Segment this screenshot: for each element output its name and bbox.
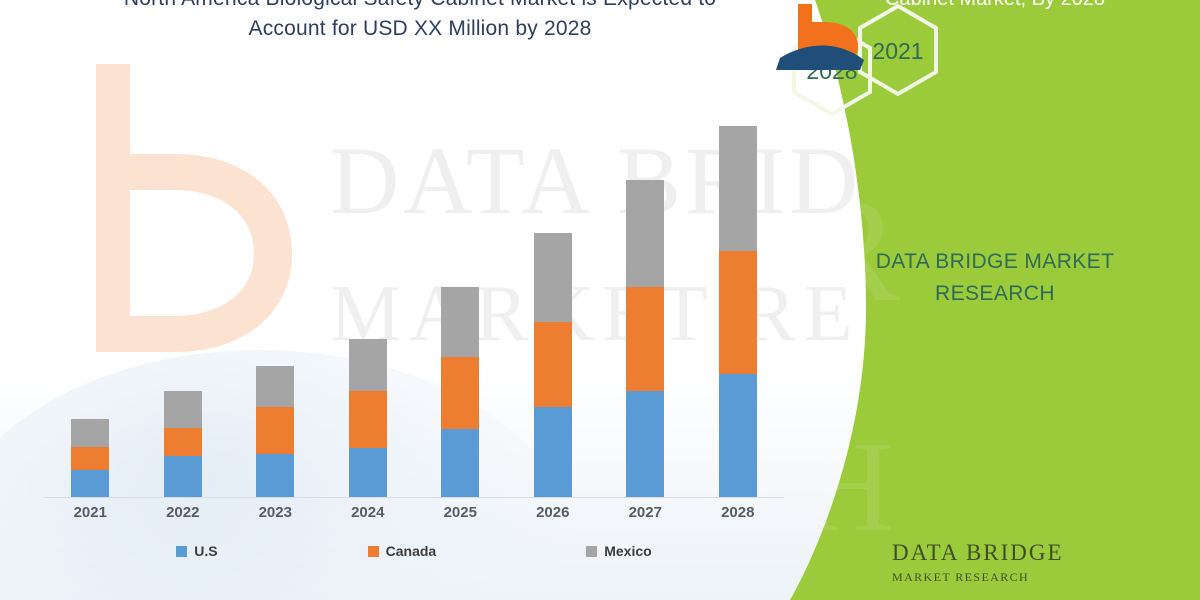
bar-segment-us-2027: [626, 391, 664, 497]
bar-segment-us-2026: [534, 407, 572, 497]
bar-segment-canada-2023: [256, 407, 294, 454]
bar-segment-mexico-2026: [534, 233, 572, 322]
infographic-canvas: DATA BRIDGE MARKET RESEARCH North Americ…: [0, 0, 1200, 600]
bar-group: [44, 120, 784, 497]
branding-panel-content: Cabinet Market, By 2028 2021 2028 DATA B…: [770, 0, 1200, 600]
legend-canada[interactable]: Canada: [368, 543, 437, 559]
bar-column-2024: [322, 120, 414, 497]
stacked-bar-2027: [626, 180, 664, 497]
stacked-bar-2022: [164, 391, 202, 497]
bar-segment-canada-2021: [71, 447, 109, 470]
plot-area: [44, 120, 784, 498]
bar-column-2022: [137, 120, 229, 497]
bar-segment-canada-2025: [441, 357, 479, 429]
legend-canada-label: Canada: [386, 543, 437, 559]
chart-panel: DATA BRIDGE MARKET RESEARCH North Americ…: [0, 0, 880, 600]
bar-column-2025: [414, 120, 506, 497]
chart-title-line-1: North America Biological Safety Cabinet …: [60, 0, 780, 14]
legend-mexico-label: Mexico: [604, 543, 651, 559]
bar-segment-mexico-2028: [719, 126, 757, 251]
stacked-bar-2026: [534, 233, 572, 497]
bar-segment-us-2028: [719, 374, 757, 497]
stacked-bar-2028: [719, 126, 757, 497]
bar-segment-canada-2027: [626, 287, 664, 391]
x-axis-label-2022: 2022: [137, 504, 229, 532]
bar-segment-canada-2024: [349, 391, 387, 448]
brand-name-line-1: DATA BRIDGE MARKET: [810, 246, 1180, 278]
x-axis-label-2021: 2021: [44, 504, 136, 532]
chart-legend: U.SCanadaMexico: [44, 538, 784, 564]
bar-column-2023: [229, 120, 321, 497]
chart-title-line-2: Account for USD XX Million by 2028: [60, 14, 780, 44]
logo-wordmark: DATA BRIDGE: [892, 540, 1064, 566]
bar-segment-mexico-2021: [71, 419, 109, 446]
x-axis-label-2024: 2024: [322, 504, 414, 532]
stacked-bar-chart: [44, 120, 784, 498]
legend-canada-swatch-icon: [368, 546, 379, 557]
x-axis-line: [44, 497, 784, 498]
x-axis-label-2026: 2026: [507, 504, 599, 532]
bar-segment-canada-2022: [164, 428, 202, 456]
legend-us-swatch-icon: [176, 546, 187, 557]
brand-name: DATA BRIDGE MARKET RESEARCH: [810, 246, 1180, 310]
bar-segment-us-2022: [164, 456, 202, 497]
bar-column-2026: [507, 120, 599, 497]
bar-segment-mexico-2027: [626, 180, 664, 286]
legend-mexico[interactable]: Mexico: [586, 543, 651, 559]
stacked-bar-2024: [349, 339, 387, 497]
bar-segment-mexico-2025: [441, 287, 479, 357]
stacked-bar-2021: [71, 419, 109, 497]
legend-mexico-swatch-icon: [586, 546, 597, 557]
bar-segment-mexico-2022: [164, 391, 202, 428]
bar-segment-mexico-2024: [349, 339, 387, 390]
bar-segment-us-2023: [256, 454, 294, 497]
bar-column-2027: [599, 120, 691, 497]
chart-title: North America Biological Safety Cabinet …: [60, 0, 780, 44]
branding-panel: R H Cabinet Market, By 2028 2021 2028 DA…: [770, 0, 1200, 600]
legend-us-label: U.S: [194, 543, 217, 559]
bar-segment-canada-2028: [719, 251, 757, 375]
bar-segment-mexico-2023: [256, 366, 294, 408]
bar-segment-us-2024: [349, 448, 387, 497]
stacked-bar-2025: [441, 287, 479, 497]
data-bridge-logo-icon: [770, 0, 1110, 70]
legend-us[interactable]: U.S: [176, 543, 217, 559]
x-axis-label-2027: 2027: [599, 504, 691, 532]
x-axis-label-2023: 2023: [229, 504, 321, 532]
x-axis-label-2025: 2025: [414, 504, 506, 532]
bar-segment-us-2021: [71, 470, 109, 497]
bar-segment-canada-2026: [534, 322, 572, 407]
brand-name-line-2: RESEARCH: [810, 278, 1180, 310]
bar-segment-us-2025: [441, 429, 479, 497]
logo-subtext: MARKET RESEARCH: [892, 570, 1029, 585]
bar-column-2021: [44, 120, 136, 497]
x-axis-labels: 20212022202320242025202620272028: [44, 504, 784, 532]
stacked-bar-2023: [256, 366, 294, 497]
